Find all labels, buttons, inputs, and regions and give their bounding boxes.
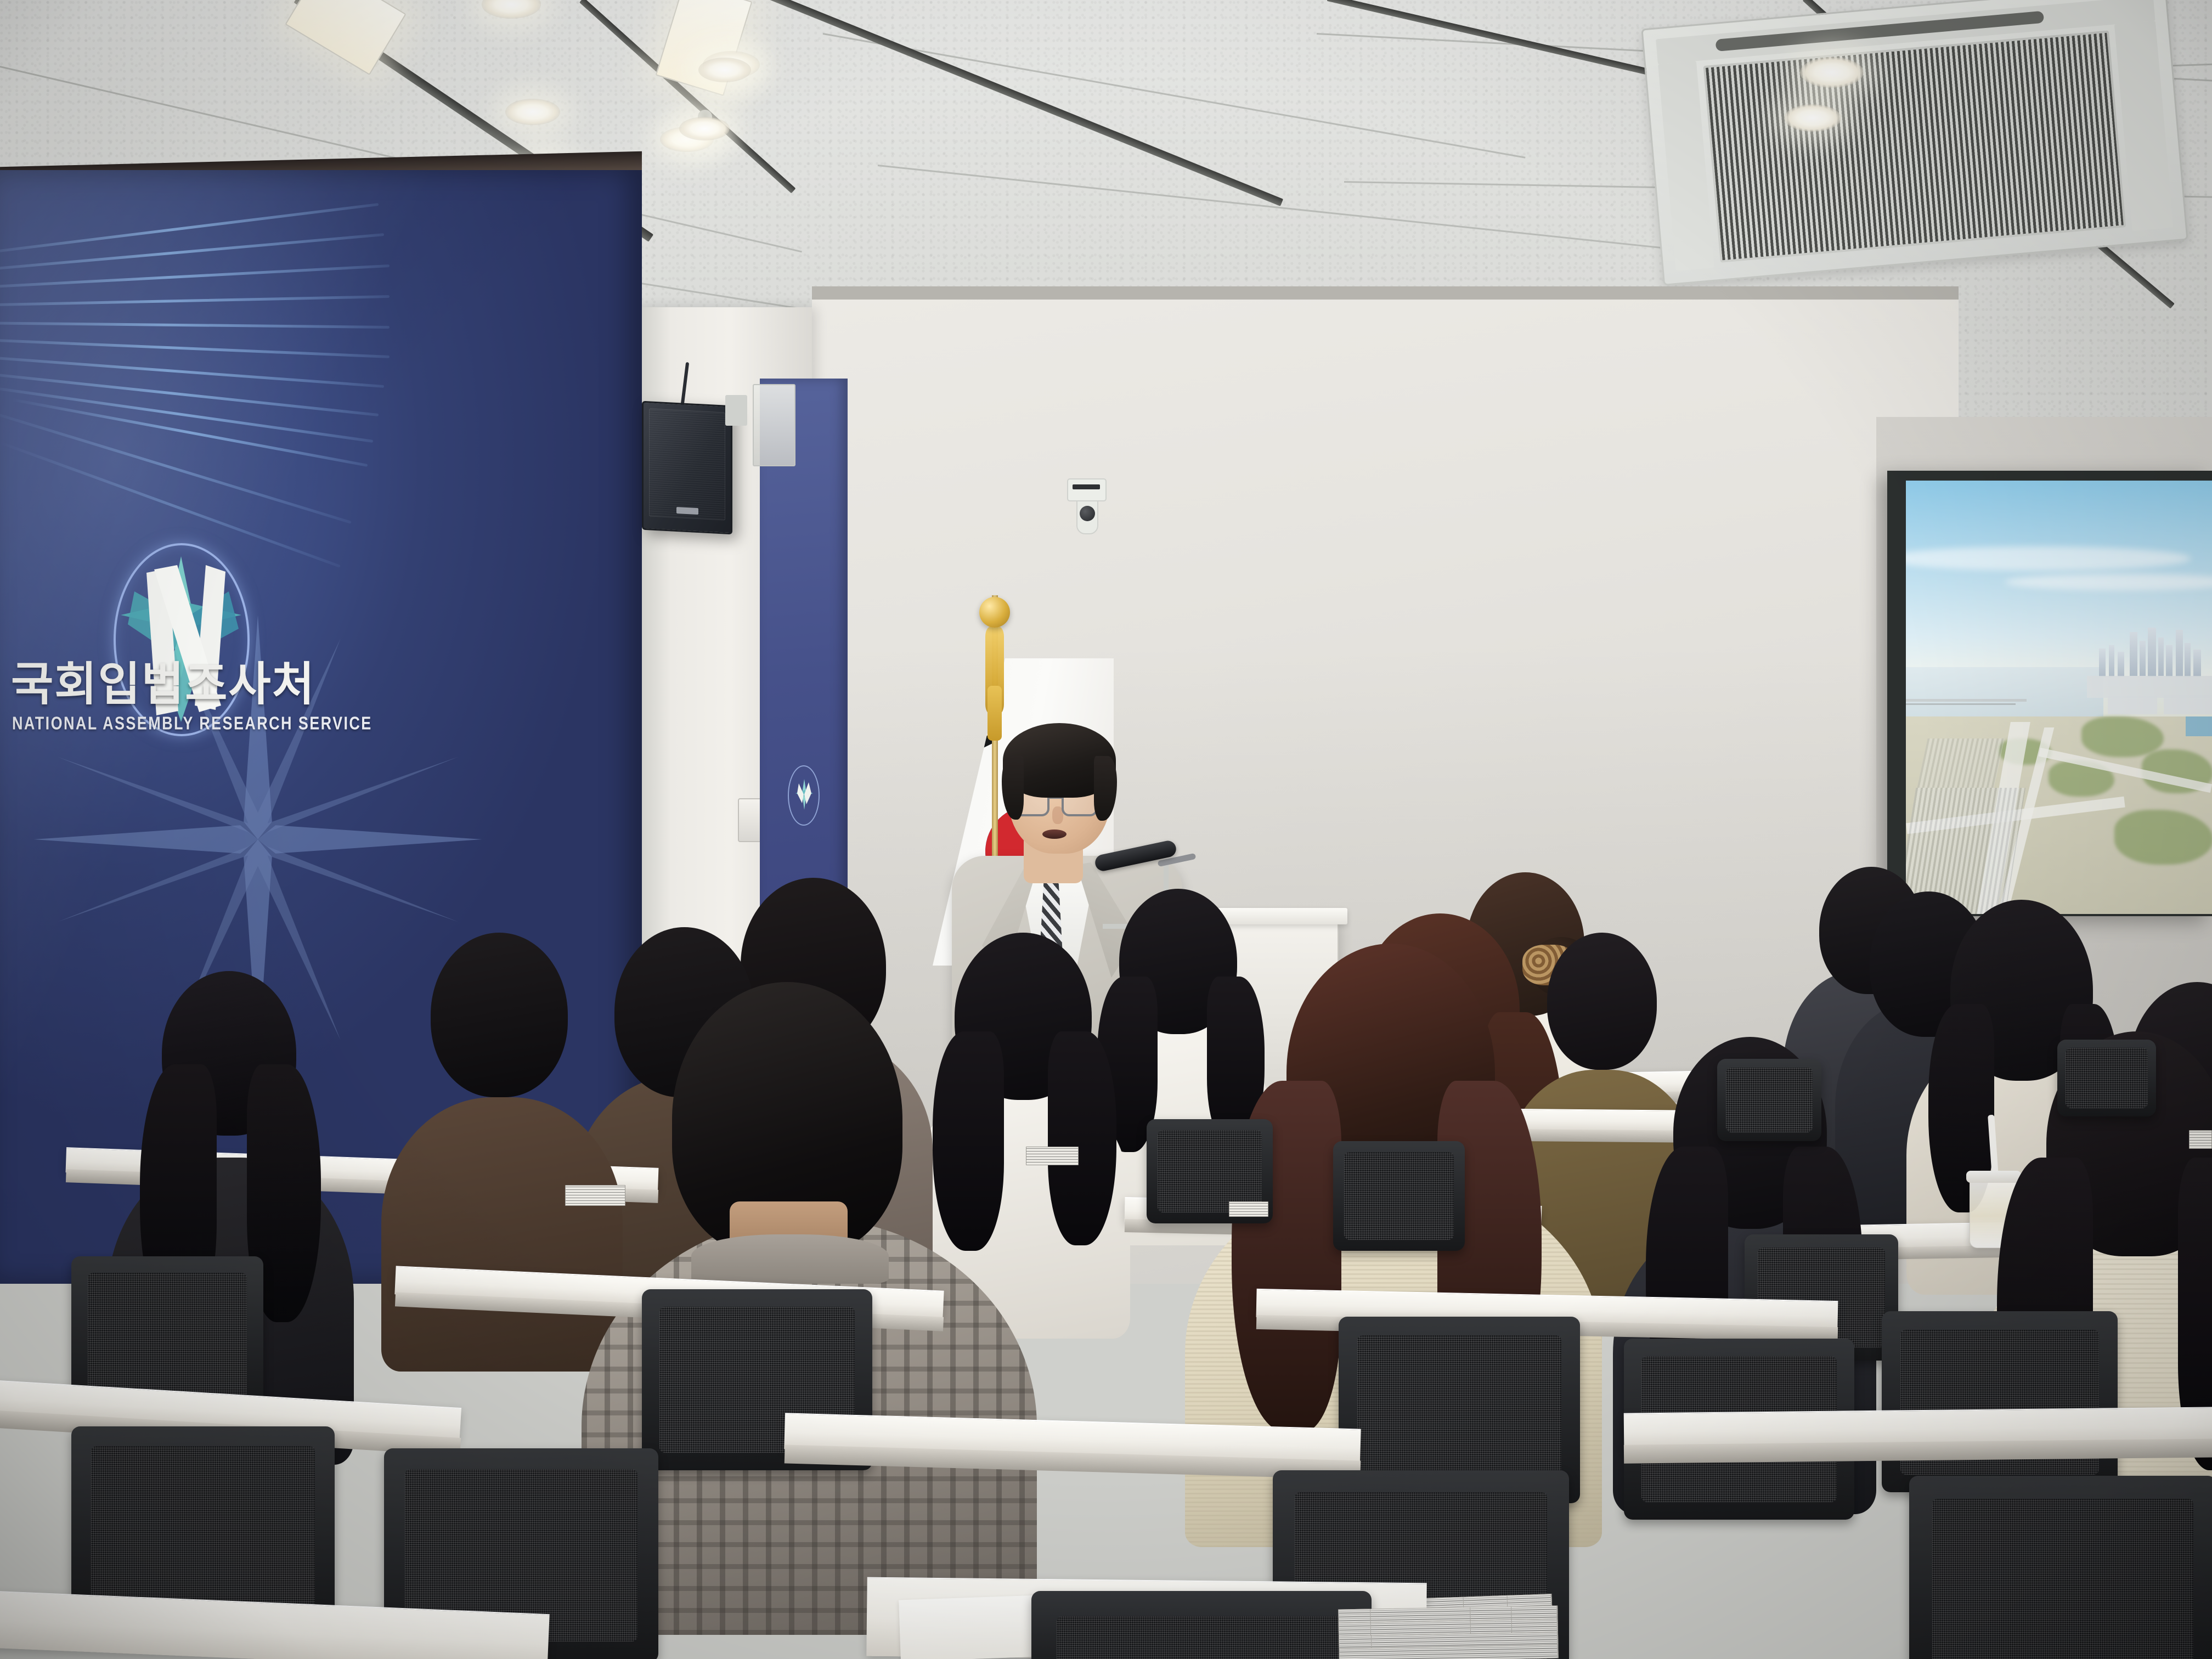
speaker-brand-badge [676, 507, 698, 515]
organization-subtitle: NATIONAL ASSEMBLY RESEARCH SERVICE [12, 713, 308, 734]
projection-screen [1906, 481, 2212, 914]
flag-finial-ball [979, 597, 1010, 628]
equipment-asset-label [1229, 1201, 1268, 1217]
attendee-head [431, 933, 568, 1097]
equipment-asset-label [1338, 1606, 1559, 1659]
wall-trim [812, 286, 1959, 300]
wall-mounted-pa-speaker [642, 401, 732, 535]
ac-grille [1703, 30, 2126, 262]
ceiling-downlight [698, 58, 751, 82]
equipment-asset-label [2189, 1130, 2212, 1149]
speaker-grille [649, 408, 725, 520]
seminar-room-photo: 국회입법조사처 NATIONAL ASSEMBLY RESEARCH SERVI… [0, 0, 2212, 1659]
cup-lid [1966, 1171, 2021, 1183]
attendee-torso [381, 1097, 623, 1372]
camera-vent-slot [1073, 484, 1100, 489]
projection-screen-frame [1887, 471, 2212, 916]
ceiling-downlight [505, 99, 560, 125]
ceiling-downlight [1784, 104, 1841, 132]
camera-lens [1080, 506, 1095, 521]
attendee-collar [691, 1234, 889, 1284]
flag-tassel-lower [988, 686, 1002, 741]
page-title: 국회입법조사처 [11, 656, 241, 713]
attendee-hair-fall [933, 1031, 1004, 1251]
document-on-desk[interactable] [899, 1595, 1043, 1659]
ceiling-downlight [1800, 57, 1864, 88]
equipment-asset-label [1026, 1147, 1079, 1165]
presenter-mouth [1042, 830, 1066, 839]
equipment-asset-label [565, 1185, 625, 1206]
camera-mount-base [1067, 478, 1107, 501]
attendee-head [1547, 933, 1657, 1070]
attendee-hair-fall [1048, 1031, 1116, 1245]
ceiling-cassette-ac [1641, 0, 2188, 286]
wall-bracket [753, 384, 795, 466]
speaker-mount-arm [725, 395, 747, 426]
secondary-emblem-mark [794, 776, 814, 817]
ceiling-downlight [679, 117, 730, 140]
